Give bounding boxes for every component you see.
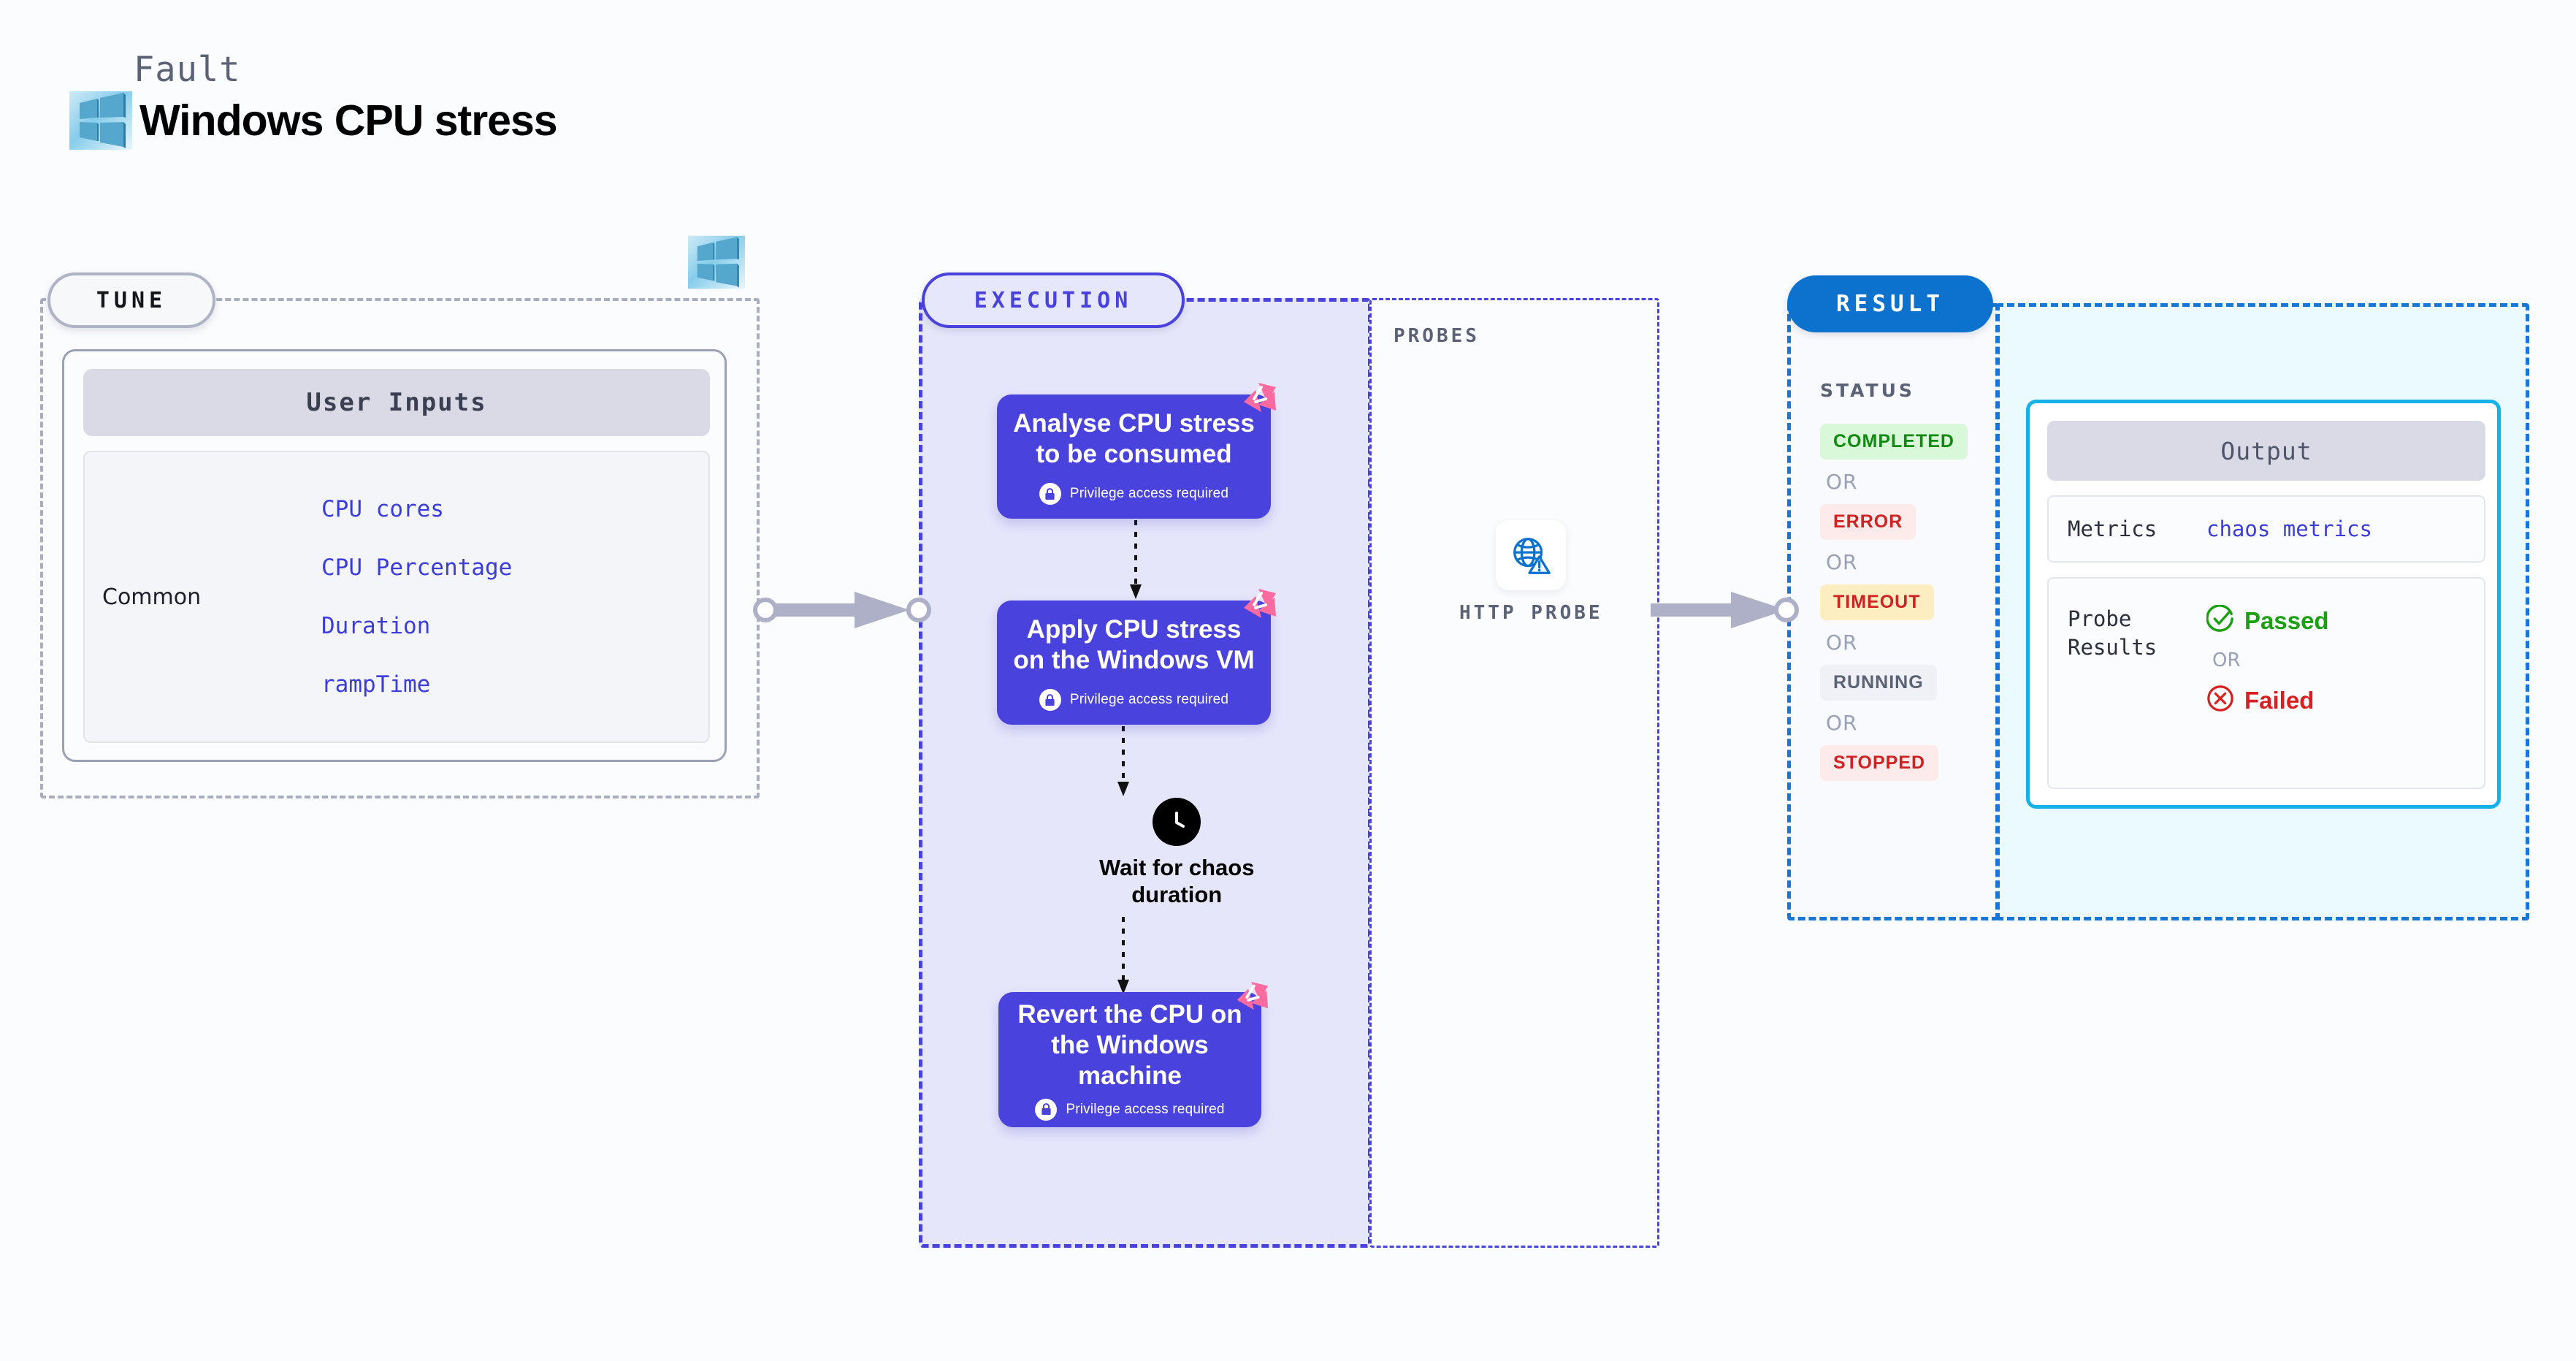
- wait-label: Wait for chaos duration: [1099, 855, 1254, 908]
- tune-group-label: Common: [102, 584, 248, 610]
- check-circle-icon: [2206, 605, 2234, 636]
- execution-step-apply[interactable]: Apply CPU stress on the Windows VM Privi…: [997, 601, 1271, 725]
- connector-wait-revert: [1109, 917, 1138, 999]
- output-card: Output Metrics chaos metrics Probe Resul…: [2026, 400, 2501, 809]
- tune-param-ramptime[interactable]: rampTime: [321, 671, 512, 698]
- output-metrics-row: Metrics chaos metrics: [2047, 495, 2485, 563]
- status-or: OR: [1826, 630, 1988, 655]
- status-badge-completed: COMPLETED: [1820, 424, 1968, 460]
- user-inputs-header: User Inputs: [83, 369, 710, 436]
- arrow-execution-to-result: [1643, 584, 1811, 636]
- status-or: OR: [1826, 550, 1988, 574]
- litmus-pinwheel-icon: [1233, 979, 1269, 1015]
- user-inputs-body: Common CPU cores CPU Percentage Duration…: [83, 451, 710, 743]
- lock-icon: [1039, 689, 1061, 711]
- user-inputs-card: User Inputs Common CPU cores CPU Percent…: [62, 349, 727, 762]
- privilege-note: Privilege access required: [1039, 483, 1228, 505]
- probe-http[interactable]: HTTP PROBE: [1459, 520, 1603, 624]
- probe-passed-text: Passed: [2244, 607, 2329, 635]
- execution-step-analyse[interactable]: Analyse CPU stress to be consumed Privil…: [997, 394, 1271, 519]
- tune-param-duration[interactable]: Duration: [321, 613, 512, 639]
- status-or: OR: [1826, 470, 1988, 494]
- lock-icon: [1039, 483, 1061, 505]
- tune-params-list: CPU cores CPU Percentage Duration rampTi…: [321, 496, 512, 698]
- probe-failed-text: Failed: [2244, 687, 2314, 714]
- probe-results-label: Probe Results: [2068, 605, 2199, 662]
- status-badge-running: RUNNING: [1820, 665, 1937, 701]
- clock-icon: [1153, 798, 1201, 846]
- metrics-label: Metrics: [2068, 516, 2206, 541]
- output-probe-results-row: Probe Results Passed OR: [2047, 577, 2485, 789]
- privilege-note-text: Privilege access required: [1066, 1102, 1224, 1118]
- probe-result-passed: Passed: [2206, 605, 2329, 636]
- privilege-note-text: Privilege access required: [1070, 692, 1228, 708]
- litmus-pinwheel-icon: [1239, 586, 1277, 624]
- execution-step-revert[interactable]: Revert the CPU on the Windows machine Pr…: [998, 992, 1261, 1127]
- connector-step2-wait: [1109, 726, 1138, 799]
- status-badge-timeout: TIMEOUT: [1820, 584, 1934, 620]
- tune-param-cpu-percentage[interactable]: CPU Percentage: [321, 554, 512, 581]
- status-label: STATUS: [1820, 380, 1915, 401]
- status-badge-stopped: STOPPED: [1820, 745, 1938, 781]
- connector-step1-step2: [1121, 520, 1150, 602]
- x-circle-icon: [2206, 685, 2234, 716]
- probe-label: HTTP PROBE: [1459, 602, 1603, 624]
- probe-result-or: OR: [2212, 649, 2329, 671]
- globe-warning-icon: [1496, 520, 1566, 590]
- page-header: Fault: [69, 50, 557, 150]
- lock-icon: [1035, 1099, 1057, 1121]
- tune-param-cpu-cores[interactable]: CPU cores: [321, 496, 512, 522]
- probes-section-label: PROBES: [1394, 325, 1480, 347]
- privilege-note: Privilege access required: [1039, 689, 1228, 711]
- status-list: COMPLETED OR ERROR OR TIMEOUT OR RUNNING…: [1820, 424, 1988, 781]
- tune-windows-logo-icon: [688, 235, 745, 293]
- execution-step-title: Analyse CPU stress to be consumed: [997, 408, 1271, 470]
- privilege-note-text: Privilege access required: [1070, 486, 1228, 502]
- header-kicker: Fault: [134, 50, 557, 90]
- windows-logo-icon: [69, 91, 132, 150]
- execution-step-title: Apply CPU stress on the Windows VM: [997, 614, 1271, 676]
- probe-result-failed: Failed: [2206, 685, 2329, 716]
- probes-section: [1369, 298, 1659, 1248]
- page-title: Windows CPU stress: [139, 96, 557, 145]
- privilege-note: Privilege access required: [1035, 1099, 1224, 1121]
- tune-pill-label: TUNE: [47, 272, 215, 328]
- arrow-tune-to-execution: [752, 584, 935, 636]
- metrics-value[interactable]: chaos metrics: [2206, 516, 2372, 541]
- status-badge-error: ERROR: [1820, 504, 1916, 540]
- output-header: Output: [2047, 421, 2485, 481]
- execution-pill-label: EXECUTION: [922, 272, 1185, 328]
- status-or: OR: [1826, 711, 1988, 735]
- wait-for-chaos-duration: Wait for chaos duration: [1099, 798, 1254, 908]
- litmus-pinwheel-icon: [1239, 380, 1277, 418]
- result-pill-label: RESULT: [1787, 275, 1993, 332]
- diagram-canvas: Fault: [0, 0, 2576, 1361]
- execution-step-title: Revert the CPU on the Windows machine: [998, 999, 1261, 1091]
